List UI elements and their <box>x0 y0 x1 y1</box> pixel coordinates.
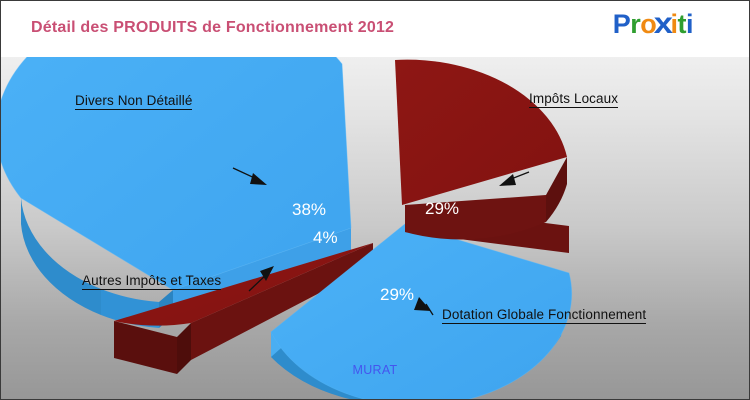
logo-letter-x: x <box>654 9 673 39</box>
callout-label-dotation-globale-fonctionnement[interactable]: Dotation Globale Fonctionnement <box>442 307 646 324</box>
pie-slice-impots-locaux[interactable] <box>395 60 569 253</box>
commune-name-label: MURAT <box>1 363 749 377</box>
slice-value-dotation-globale: 29% <box>380 285 414 305</box>
logo-letter-p: P <box>613 11 631 38</box>
callout-label-autres-impots-et-taxes[interactable]: Autres Impôts et Taxes <box>82 273 221 290</box>
slice-value-impots-locaux: 29% <box>425 199 459 219</box>
slice-value-divers-non-detaille: 38% <box>292 200 326 220</box>
page-title: Détail des PRODUITS de Fonctionnement 20… <box>31 19 394 37</box>
logo-letter-r: r <box>630 11 640 38</box>
callout-label-impots-locaux[interactable]: Impôts Locaux <box>529 91 618 108</box>
logo-letter-i2: i <box>686 11 693 38</box>
chart-header: Détail des PRODUITS de Fonctionnement 20… <box>1 1 749 57</box>
logo-letter-t: t <box>677 11 686 38</box>
proxiti-logo[interactable]: Proxiti <box>613 9 693 39</box>
callout-label-divers-non-detaille[interactable]: Divers Non Détaillé <box>75 93 192 110</box>
slice-value-autres-impots: 4% <box>313 228 338 248</box>
chart-screenshot: Détail des PRODUITS de Fonctionnement 20… <box>0 0 750 400</box>
